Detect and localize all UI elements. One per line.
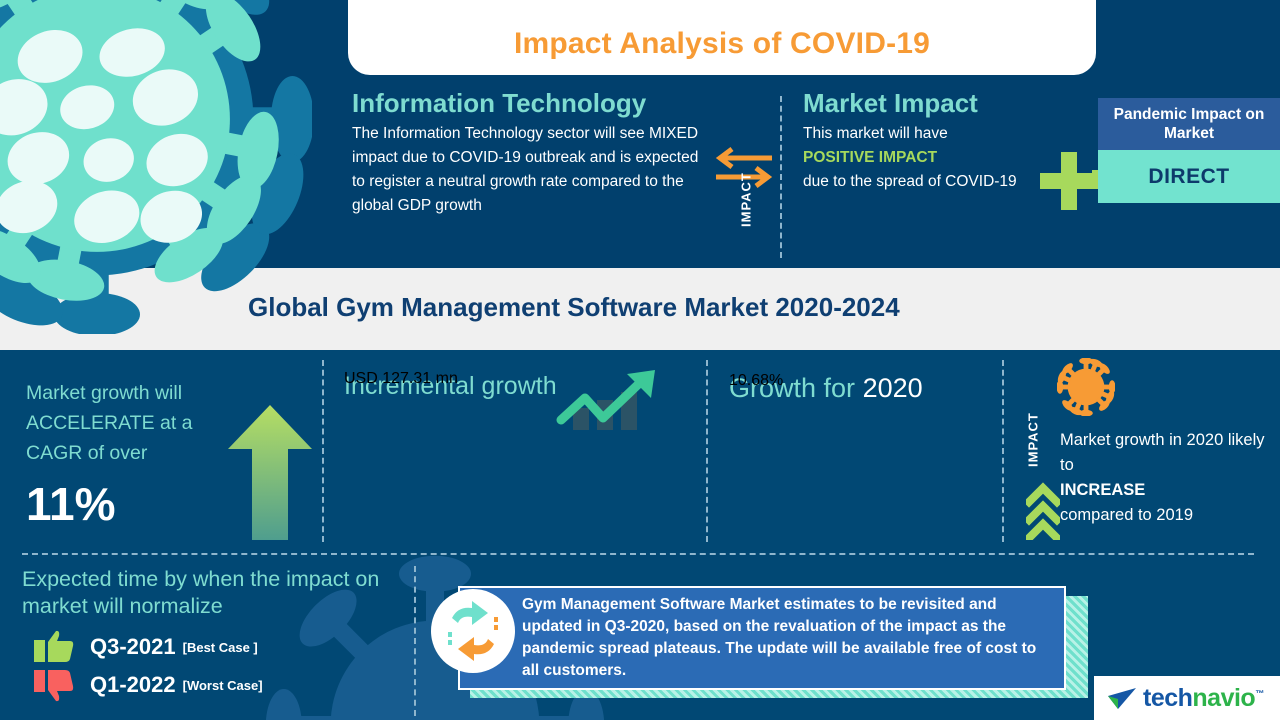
vertical-divider-metric-3 <box>1002 360 1004 542</box>
logo-trademark: ™ <box>1255 689 1264 699</box>
logo-content: technavio™ <box>1106 684 1264 713</box>
note-callout-box: Gym Management Software Market estimates… <box>458 586 1066 690</box>
thumbs-up-icon <box>34 630 74 664</box>
impact-vertical-label: IMPACT <box>712 150 780 250</box>
impact-2020-text-pre: Market growth in 2020 likely to <box>1060 431 1265 474</box>
worst-case-quarter: Q1-2022 <box>90 672 176 698</box>
horizontal-divider-bottom <box>22 553 1254 555</box>
market-impact-body-post: due to the spread of COVID-19 <box>803 173 1017 190</box>
logo-part-b: navio <box>1192 684 1255 712</box>
virus-illustration-icon <box>0 0 312 334</box>
infographic-canvas: Impact Analysis of COVID-19 Information … <box>0 0 1280 720</box>
pandemic-box-heading: Pandemic Impact on Market <box>1098 98 1280 150</box>
normalize-worst-case-row: Q1-2022 [Worst Case] <box>34 668 263 702</box>
sector-information-technology: Information Technology The Information T… <box>352 88 712 218</box>
impact-2020-text: Market growth in 2020 likely to INCREASE… <box>1060 428 1272 528</box>
thumbs-down-icon <box>34 668 74 702</box>
vertical-divider-metric-1 <box>322 360 324 542</box>
header-panel: Impact Analysis of COVID-19 <box>348 0 1096 75</box>
market-impact-body: This market will have POSITIVE IMPACT du… <box>803 122 1073 194</box>
technavio-mark-icon <box>1106 685 1138 713</box>
vertical-divider-metric-2 <box>706 360 708 542</box>
it-heading: Information Technology <box>352 88 712 118</box>
page-title: Impact Analysis of COVID-19 <box>514 27 930 75</box>
best-case-quarter: Q3-2021 <box>90 634 176 660</box>
pandemic-impact-box: Pandemic Impact on Market DIRECT <box>1098 98 1280 203</box>
impact-2020-highlight: INCREASE <box>1060 481 1145 499</box>
pandemic-box-value: DIRECT <box>1098 150 1280 203</box>
technavio-logo: technavio™ <box>1094 676 1280 720</box>
cagr-lead: Market growth will ACCELERATE at a CAGR … <box>26 378 226 468</box>
market-report-title: Global Gym Management Software Market 20… <box>248 292 900 323</box>
logo-wordmark: technavio™ <box>1143 684 1264 713</box>
metric-impact-2020: Market growth in 2020 likely to INCREASE… <box>1060 428 1272 528</box>
refresh-update-icon <box>430 588 516 674</box>
double-chevron-up-icon <box>1026 480 1060 540</box>
plus-icon <box>1040 152 1098 210</box>
normalize-best-case-row: Q3-2021 [Best Case ] <box>34 630 258 664</box>
incremental-value: USD 127.31 mn <box>344 370 574 388</box>
market-impact-body-pre: This market will have <box>803 125 948 142</box>
logo-part-a: tech <box>1143 684 1192 712</box>
vertical-divider-top <box>780 96 782 258</box>
normalize-heading: Expected time by when the impact on mark… <box>22 566 422 620</box>
virus-orange-icon <box>1057 358 1115 416</box>
up-arrow-icon <box>228 405 312 540</box>
cagr-value: 11% <box>26 478 226 530</box>
worst-case-label: [Worst Case] <box>183 678 263 693</box>
note-text: Gym Management Software Market estimates… <box>460 594 1064 682</box>
impact-vertical-label-2: IMPACT <box>1018 390 1048 490</box>
market-impact-highlight: POSITIVE IMPACT <box>803 149 937 166</box>
metric-cagr: Market growth will ACCELERATE at a CAGR … <box>26 378 226 530</box>
growth-2020-value: 10.68% <box>729 372 999 390</box>
sector-market-impact: Market Impact This market will have POSI… <box>803 88 1073 194</box>
growth-chart-icon <box>555 368 665 434</box>
it-body: The Information Technology sector will s… <box>352 122 712 218</box>
impact-2020-text-post: compared to 2019 <box>1060 506 1193 524</box>
market-impact-heading: Market Impact <box>803 88 1073 118</box>
best-case-label: [Best Case ] <box>183 640 258 655</box>
